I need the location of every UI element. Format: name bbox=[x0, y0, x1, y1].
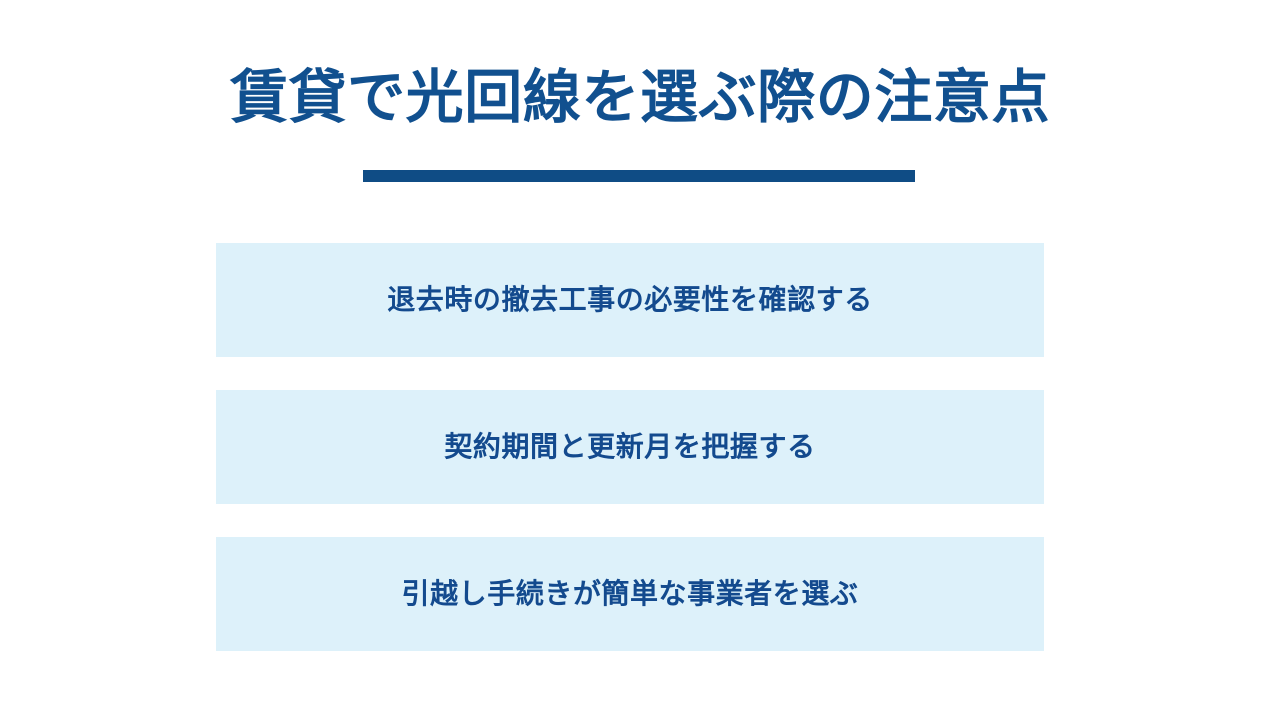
point-label-2: 契約期間と更新月を把握する bbox=[444, 429, 815, 465]
title-underline-rule bbox=[363, 170, 915, 182]
list-item: 退去時の撤去工事の必要性を確認する bbox=[216, 243, 1044, 357]
list-item: 契約期間と更新月を把握する bbox=[216, 390, 1044, 504]
title-block: 賃貸で光回線を選ぶ際の注意点 bbox=[0, 64, 1280, 132]
page-title: 賃貸で光回線を選ぶ際の注意点 bbox=[0, 64, 1280, 132]
points-list: 退去時の撤去工事の必要性を確認する 契約期間と更新月を把握する 引越し手続きが簡… bbox=[216, 243, 1044, 651]
list-item: 引越し手続きが簡単な事業者を選ぶ bbox=[216, 537, 1044, 651]
slide-canvas: 賃貸で光回線を選ぶ際の注意点 退去時の撤去工事の必要性を確認する 契約期間と更新… bbox=[0, 0, 1280, 720]
point-label-1: 退去時の撤去工事の必要性を確認する bbox=[387, 282, 873, 318]
point-label-3: 引越し手続きが簡単な事業者を選ぶ bbox=[402, 576, 859, 612]
